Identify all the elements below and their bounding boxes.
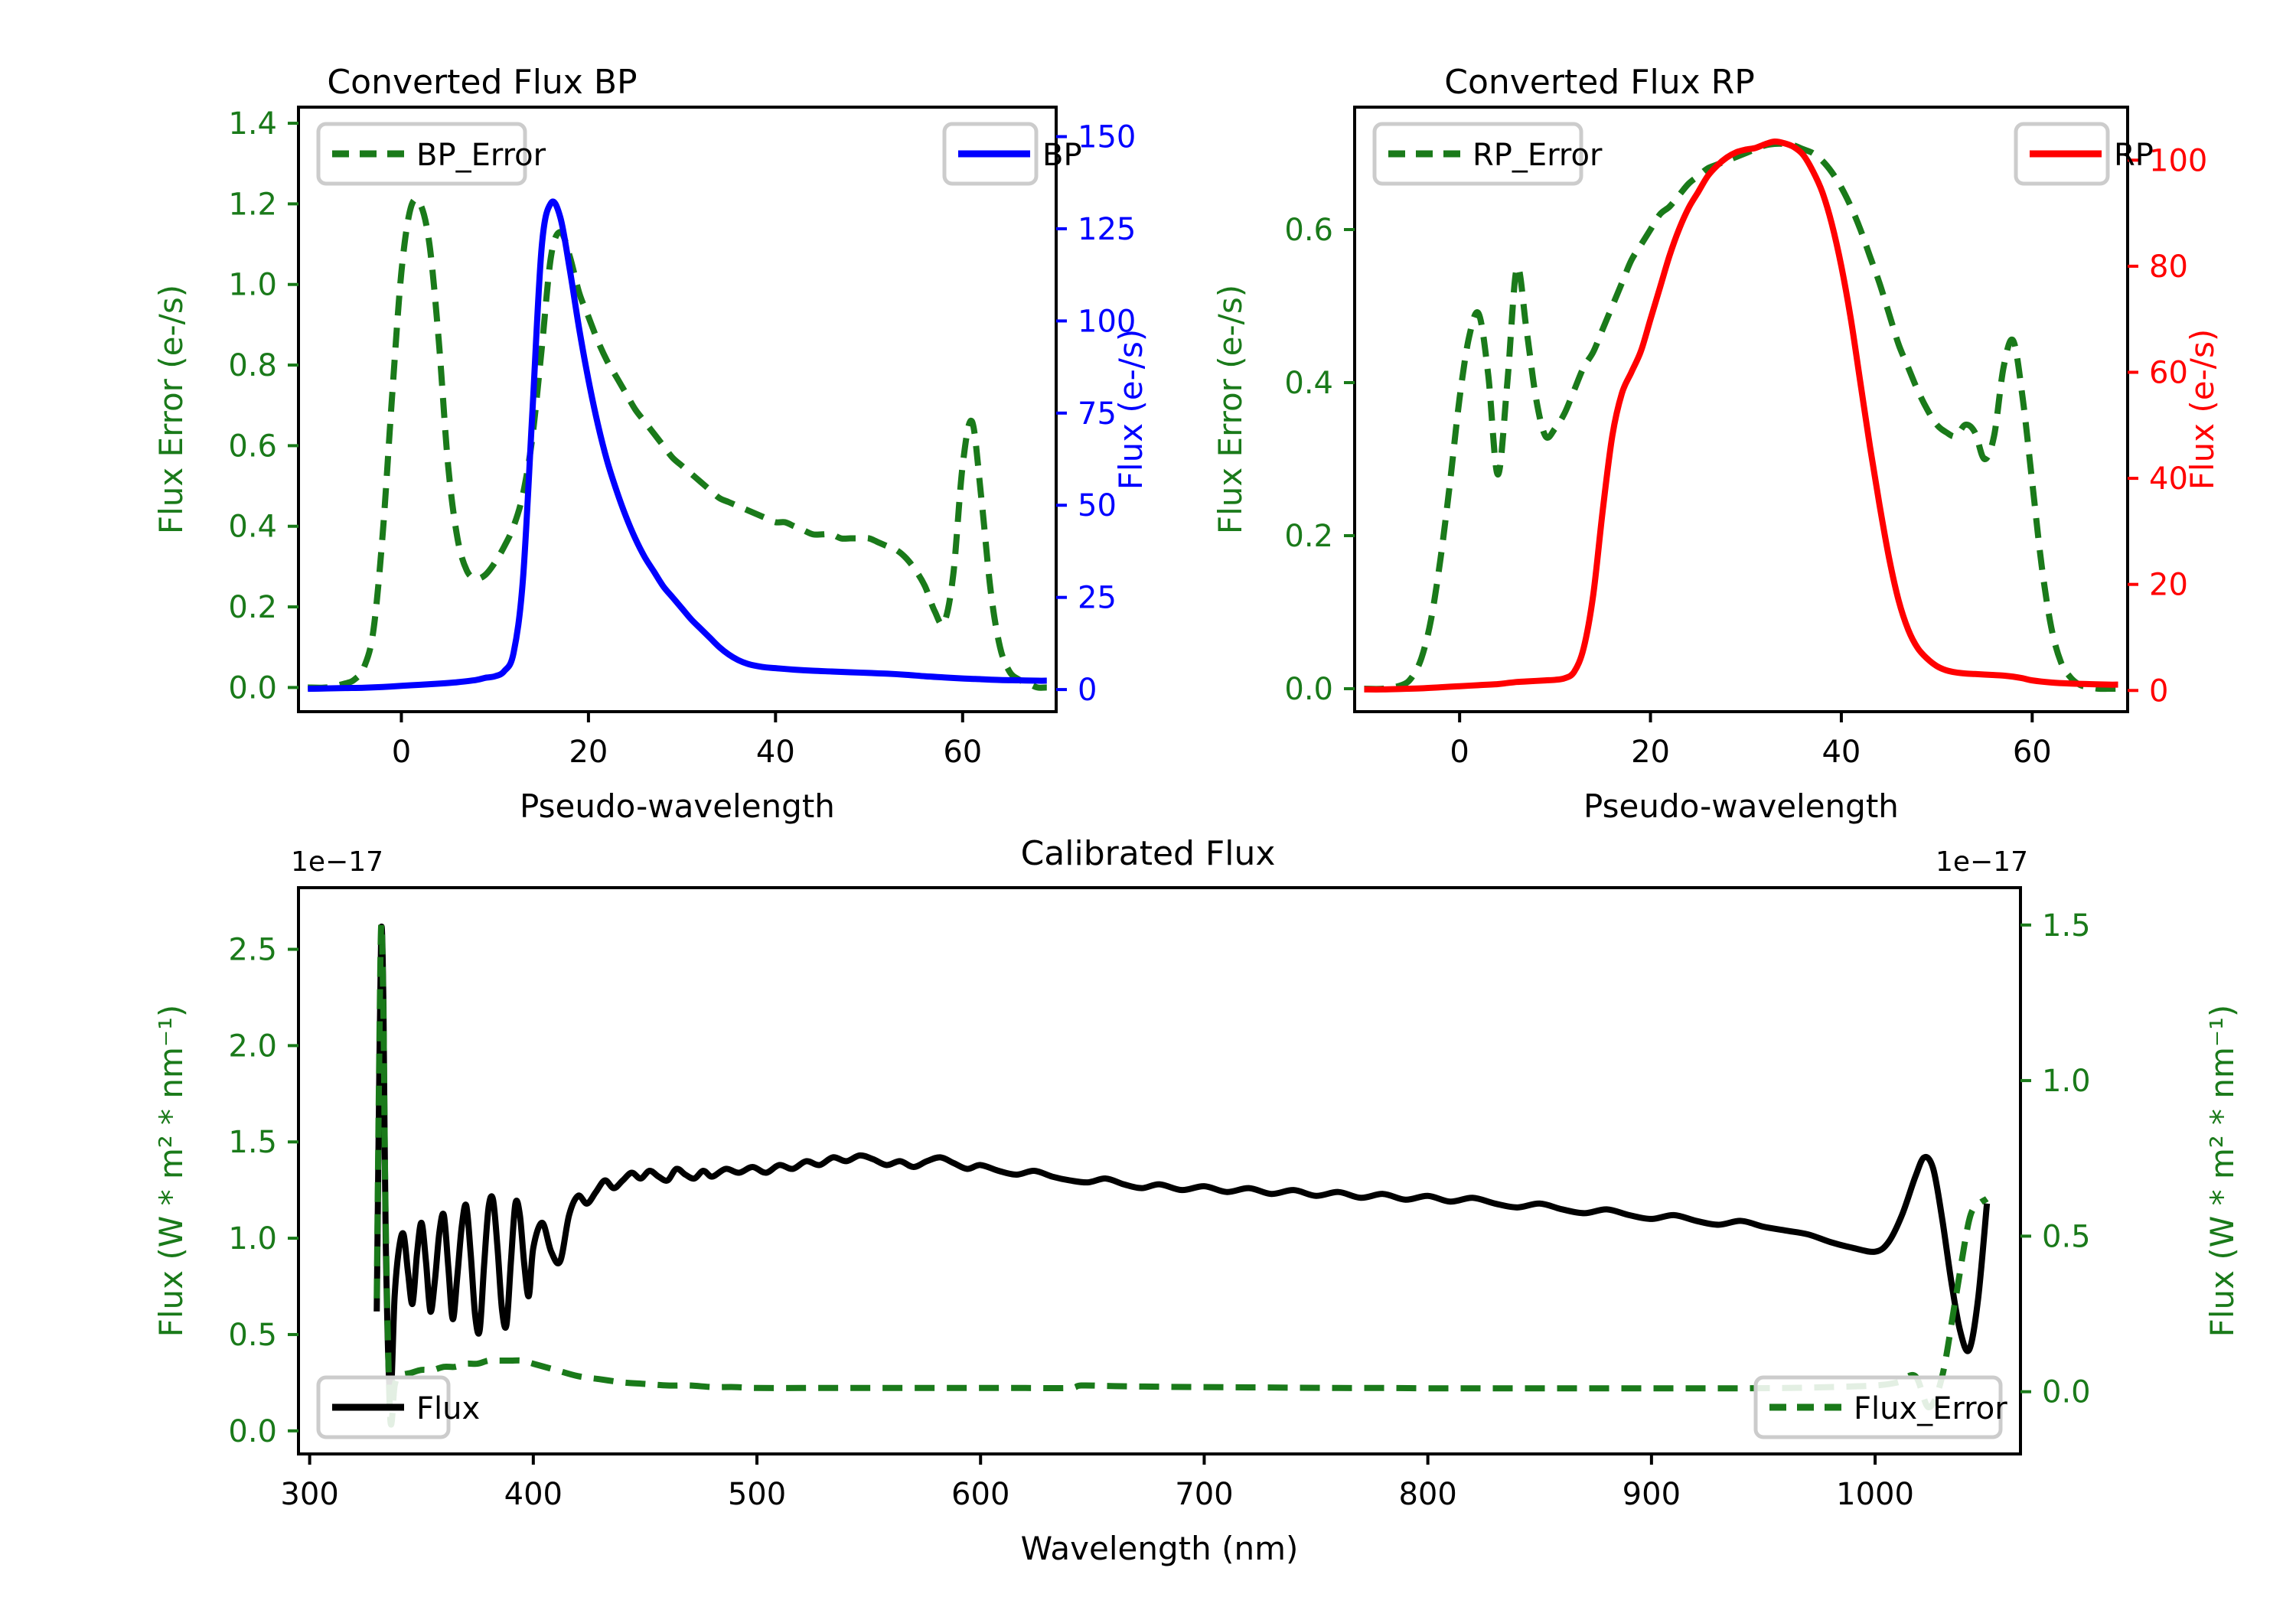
chart-rp: 0204060Pseudo-wavelength0.00.20.40.60204… xyxy=(1117,46,2296,826)
svg-text:50: 50 xyxy=(1078,488,1117,523)
panel-calibrated-flux: Calibrated Flux 300400500600700800900100… xyxy=(0,826,2296,1607)
svg-text:800: 800 xyxy=(1398,1477,1456,1512)
svg-text:0: 0 xyxy=(392,735,411,770)
svg-text:2.0: 2.0 xyxy=(228,1028,277,1064)
svg-text:100: 100 xyxy=(2149,143,2207,178)
svg-text:Wavelength (nm): Wavelength (nm) xyxy=(1021,1530,1299,1567)
svg-text:Pseudo-wavelength: Pseudo-wavelength xyxy=(520,787,835,825)
svg-text:0.0: 0.0 xyxy=(228,670,277,706)
svg-text:60: 60 xyxy=(2149,355,2188,390)
panel-cal-title: Calibrated Flux xyxy=(0,834,2296,873)
svg-text:0.0: 0.0 xyxy=(2042,1375,2091,1410)
svg-text:BP: BP xyxy=(1042,138,1082,173)
svg-text:Flux: Flux xyxy=(416,1391,480,1426)
svg-text:700: 700 xyxy=(1175,1477,1233,1512)
svg-text:Flux (W * m² * nm⁻¹): Flux (W * m² * nm⁻¹) xyxy=(2203,1005,2241,1338)
svg-text:0.2: 0.2 xyxy=(1284,519,1333,554)
svg-text:400: 400 xyxy=(504,1477,563,1512)
svg-text:1.2: 1.2 xyxy=(228,187,277,222)
panel-converted-flux-rp: Converted Flux RP 0204060Pseudo-waveleng… xyxy=(1117,46,2296,826)
svg-text:60: 60 xyxy=(2013,735,2052,770)
svg-text:75: 75 xyxy=(1078,396,1117,432)
svg-text:RP_Error: RP_Error xyxy=(1473,138,1603,173)
svg-text:600: 600 xyxy=(951,1477,1009,1512)
svg-text:0.6: 0.6 xyxy=(228,429,277,464)
svg-text:300: 300 xyxy=(280,1477,338,1512)
svg-text:1.4: 1.4 xyxy=(228,106,277,142)
svg-text:0.5: 0.5 xyxy=(228,1318,277,1353)
panel-bp-title: Converted Flux BP xyxy=(0,63,1056,102)
svg-text:0: 0 xyxy=(2149,673,2168,709)
svg-text:60: 60 xyxy=(943,735,982,770)
svg-text:0.2: 0.2 xyxy=(228,590,277,625)
chart-calibrated: 3004005006007008009001000Wavelength (nm)… xyxy=(0,826,2296,1607)
svg-text:1.0: 1.0 xyxy=(228,268,277,303)
panel-converted-flux-bp: Converted Flux BP 0204060Pseudo-waveleng… xyxy=(0,46,1148,826)
svg-text:20: 20 xyxy=(2149,568,2188,603)
svg-text:Flux Error (e-/s): Flux Error (e-/s) xyxy=(1212,285,1249,534)
svg-text:Flux_Error: Flux_Error xyxy=(1854,1391,2007,1426)
svg-text:1.0: 1.0 xyxy=(228,1221,277,1257)
svg-text:1.0: 1.0 xyxy=(2042,1064,2091,1099)
svg-text:BP_Error: BP_Error xyxy=(416,138,546,173)
svg-text:0.8: 0.8 xyxy=(228,348,277,383)
svg-text:0.4: 0.4 xyxy=(1284,366,1333,401)
chart-bp: 0204060Pseudo-wavelength0.00.20.40.60.81… xyxy=(0,46,1148,826)
svg-text:40: 40 xyxy=(1821,735,1861,770)
matplotlib-figure: Converted Flux BP 0204060Pseudo-waveleng… xyxy=(0,0,2296,1607)
svg-text:1.5: 1.5 xyxy=(228,1125,277,1160)
svg-text:RP: RP xyxy=(2114,138,2154,173)
svg-text:40: 40 xyxy=(2149,461,2188,497)
svg-text:40: 40 xyxy=(756,735,795,770)
svg-text:0.0: 0.0 xyxy=(228,1414,277,1449)
svg-text:0: 0 xyxy=(1078,673,1097,708)
svg-text:Flux (W * m² * nm⁻¹): Flux (W * m² * nm⁻¹) xyxy=(152,1005,190,1338)
svg-text:25: 25 xyxy=(1078,581,1117,616)
panel-rp-title: Converted Flux RP xyxy=(1026,63,2174,102)
svg-text:900: 900 xyxy=(1623,1477,1681,1512)
svg-text:0.6: 0.6 xyxy=(1284,213,1333,248)
svg-text:0.4: 0.4 xyxy=(228,510,277,545)
svg-text:Flux (e-/s): Flux (e-/s) xyxy=(2183,329,2221,490)
svg-text:Flux Error (e-/s): Flux Error (e-/s) xyxy=(152,285,190,534)
svg-text:500: 500 xyxy=(728,1477,786,1512)
svg-text:20: 20 xyxy=(569,735,608,770)
svg-text:80: 80 xyxy=(2149,249,2188,285)
svg-text:2.5: 2.5 xyxy=(228,933,277,968)
svg-text:0.0: 0.0 xyxy=(1284,672,1333,707)
svg-text:Pseudo-wavelength: Pseudo-wavelength xyxy=(1583,787,1899,825)
svg-text:1000: 1000 xyxy=(1836,1477,1914,1512)
svg-text:20: 20 xyxy=(1631,735,1670,770)
svg-text:0.5: 0.5 xyxy=(2042,1219,2091,1254)
svg-text:0: 0 xyxy=(1450,735,1469,770)
svg-text:1.5: 1.5 xyxy=(2042,908,2091,944)
